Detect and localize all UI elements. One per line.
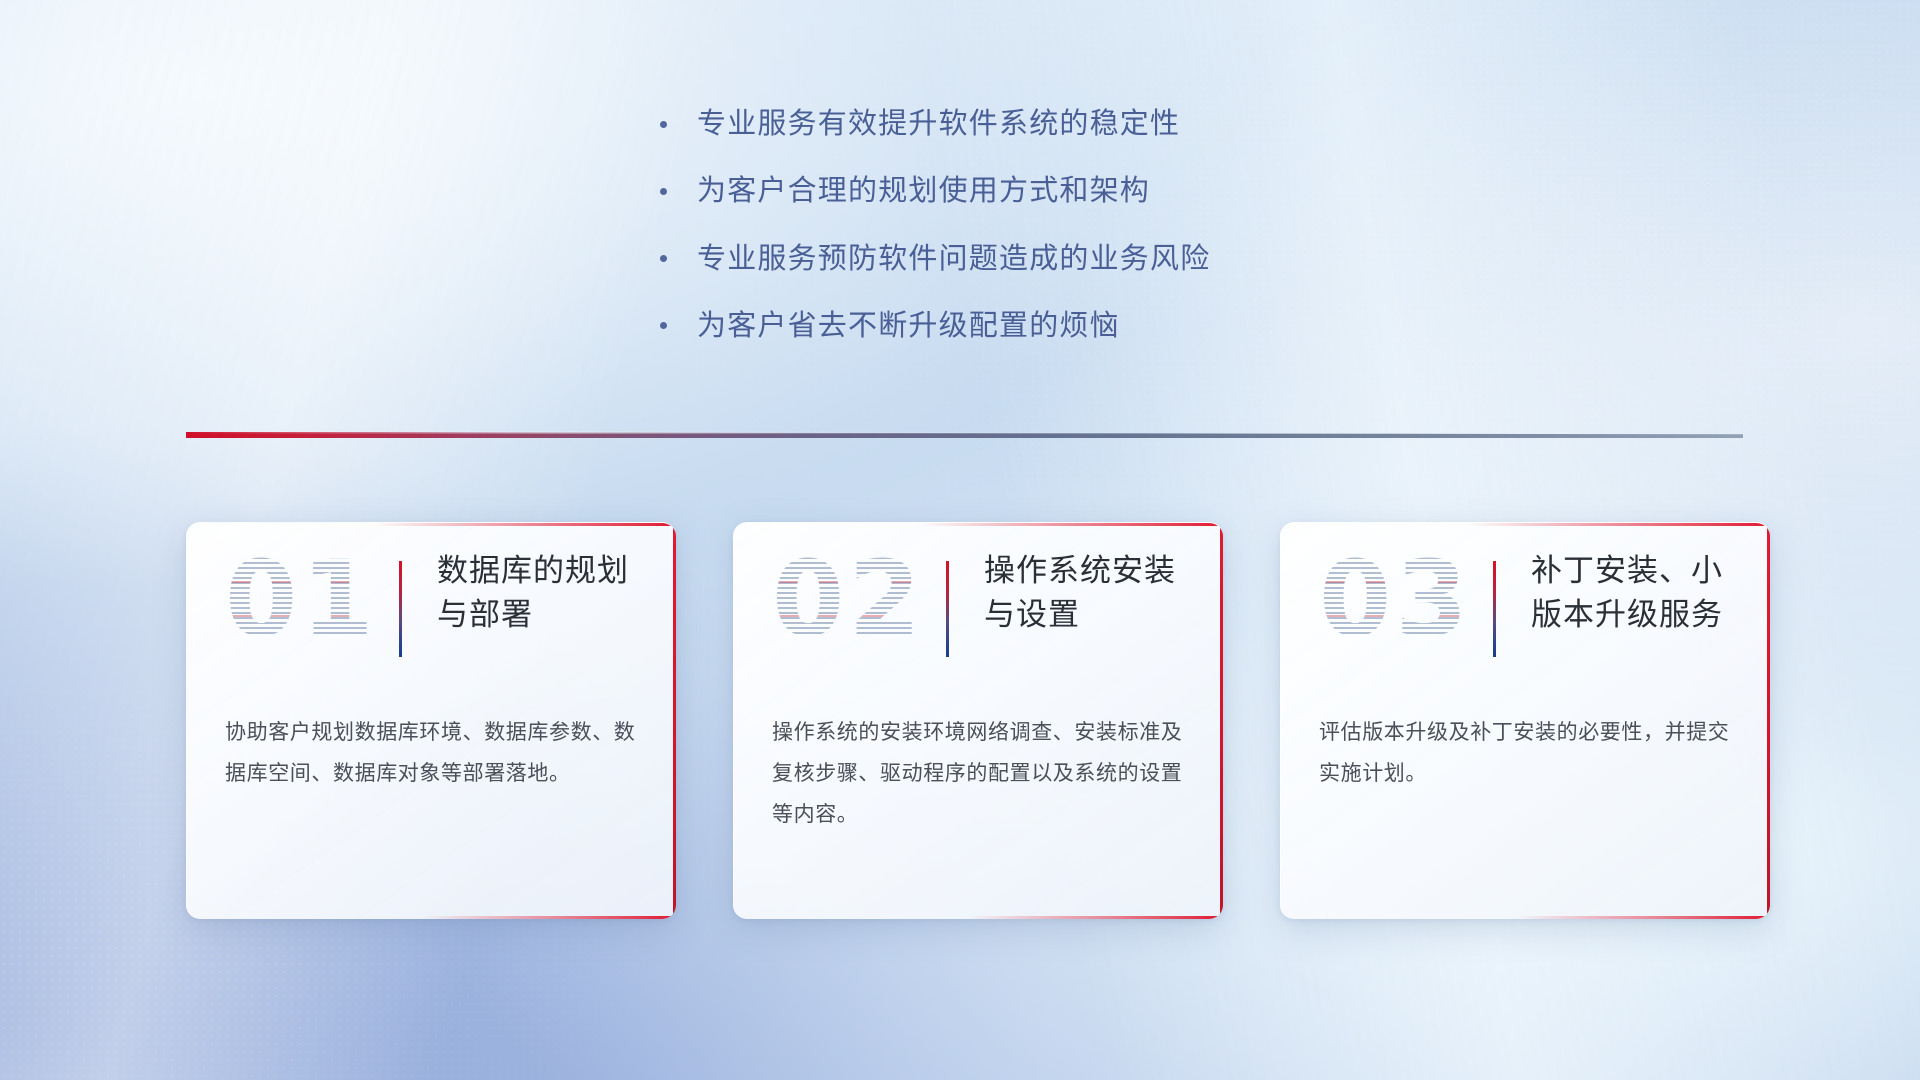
card-accent-bottom-edge	[422, 916, 676, 919]
service-card-03[interactable]: 03 03 补丁安装、小版本升级服务 评估版本升级及补丁安装的必要性，并提交实施…	[1280, 522, 1770, 919]
bullet-point-icon	[660, 255, 667, 262]
bullet-label: 专业服务预防软件问题造成的业务风险	[697, 241, 1210, 277]
bullet-label: 为客户合理的规划使用方式和架构	[697, 173, 1150, 209]
bullet-point-icon	[660, 188, 667, 195]
card-title-divider	[399, 561, 402, 657]
card-number: 01	[225, 547, 378, 651]
card-accent-bottom-edge	[1516, 916, 1770, 919]
card-body-text: 评估版本升级及补丁安装的必要性，并提交实施计划。	[1319, 713, 1731, 795]
divider-highlight	[186, 431, 1151, 434]
bullet-label: 为客户省去不断升级配置的烦恼	[697, 308, 1120, 344]
service-card-02[interactable]: 02 02 操作系统安装与设置 操作系统的安装环境网络调查、安装标准及复核步骤、…	[733, 522, 1223, 919]
card-title: 补丁安装、小版本升级服务	[1531, 549, 1746, 637]
card-header: 01 01 数据库的规划与部署	[187, 523, 676, 695]
section-divider	[186, 428, 1743, 442]
service-card-group: 01 01 数据库的规划与部署 协助客户规划数据库环境、数据库参数、数据库空间、…	[186, 522, 1770, 919]
card-body-text: 操作系统的安装环境网络调查、安装标准及复核步骤、驱动程序的配置以及系统的设置等内…	[772, 713, 1184, 836]
list-item: 专业服务预防软件问题造成的业务风险	[660, 241, 1210, 277]
bullet-point-icon	[660, 121, 667, 128]
card-accent-bottom-edge	[969, 916, 1223, 919]
bullet-label: 专业服务有效提升软件系统的稳定性	[697, 106, 1180, 142]
card-number: 03	[1319, 547, 1472, 651]
card-title: 操作系统安装与设置	[984, 549, 1199, 637]
service-card-01[interactable]: 01 01 数据库的规划与部署 协助客户规划数据库环境、数据库参数、数据库空间、…	[186, 522, 676, 919]
benefits-bullet-list: 专业服务有效提升软件系统的稳定性 为客户合理的规划使用方式和架构 专业服务预防软…	[660, 106, 1210, 344]
bullet-point-icon	[660, 322, 667, 329]
list-item: 为客户合理的规划使用方式和架构	[660, 173, 1210, 209]
card-body-text: 协助客户规划数据库环境、数据库参数、数据库空间、数据库对象等部署落地。	[225, 713, 637, 795]
card-header: 02 02 操作系统安装与设置	[734, 523, 1223, 695]
card-title: 数据库的规划与部署	[437, 549, 652, 637]
card-header: 03 03 补丁安装、小版本升级服务	[1281, 523, 1770, 695]
card-title-divider	[1493, 561, 1496, 657]
list-item: 专业服务有效提升软件系统的稳定性	[660, 106, 1210, 142]
card-number: 02	[772, 547, 925, 651]
list-item: 为客户省去不断升级配置的烦恼	[660, 308, 1210, 344]
card-title-divider	[946, 561, 949, 657]
